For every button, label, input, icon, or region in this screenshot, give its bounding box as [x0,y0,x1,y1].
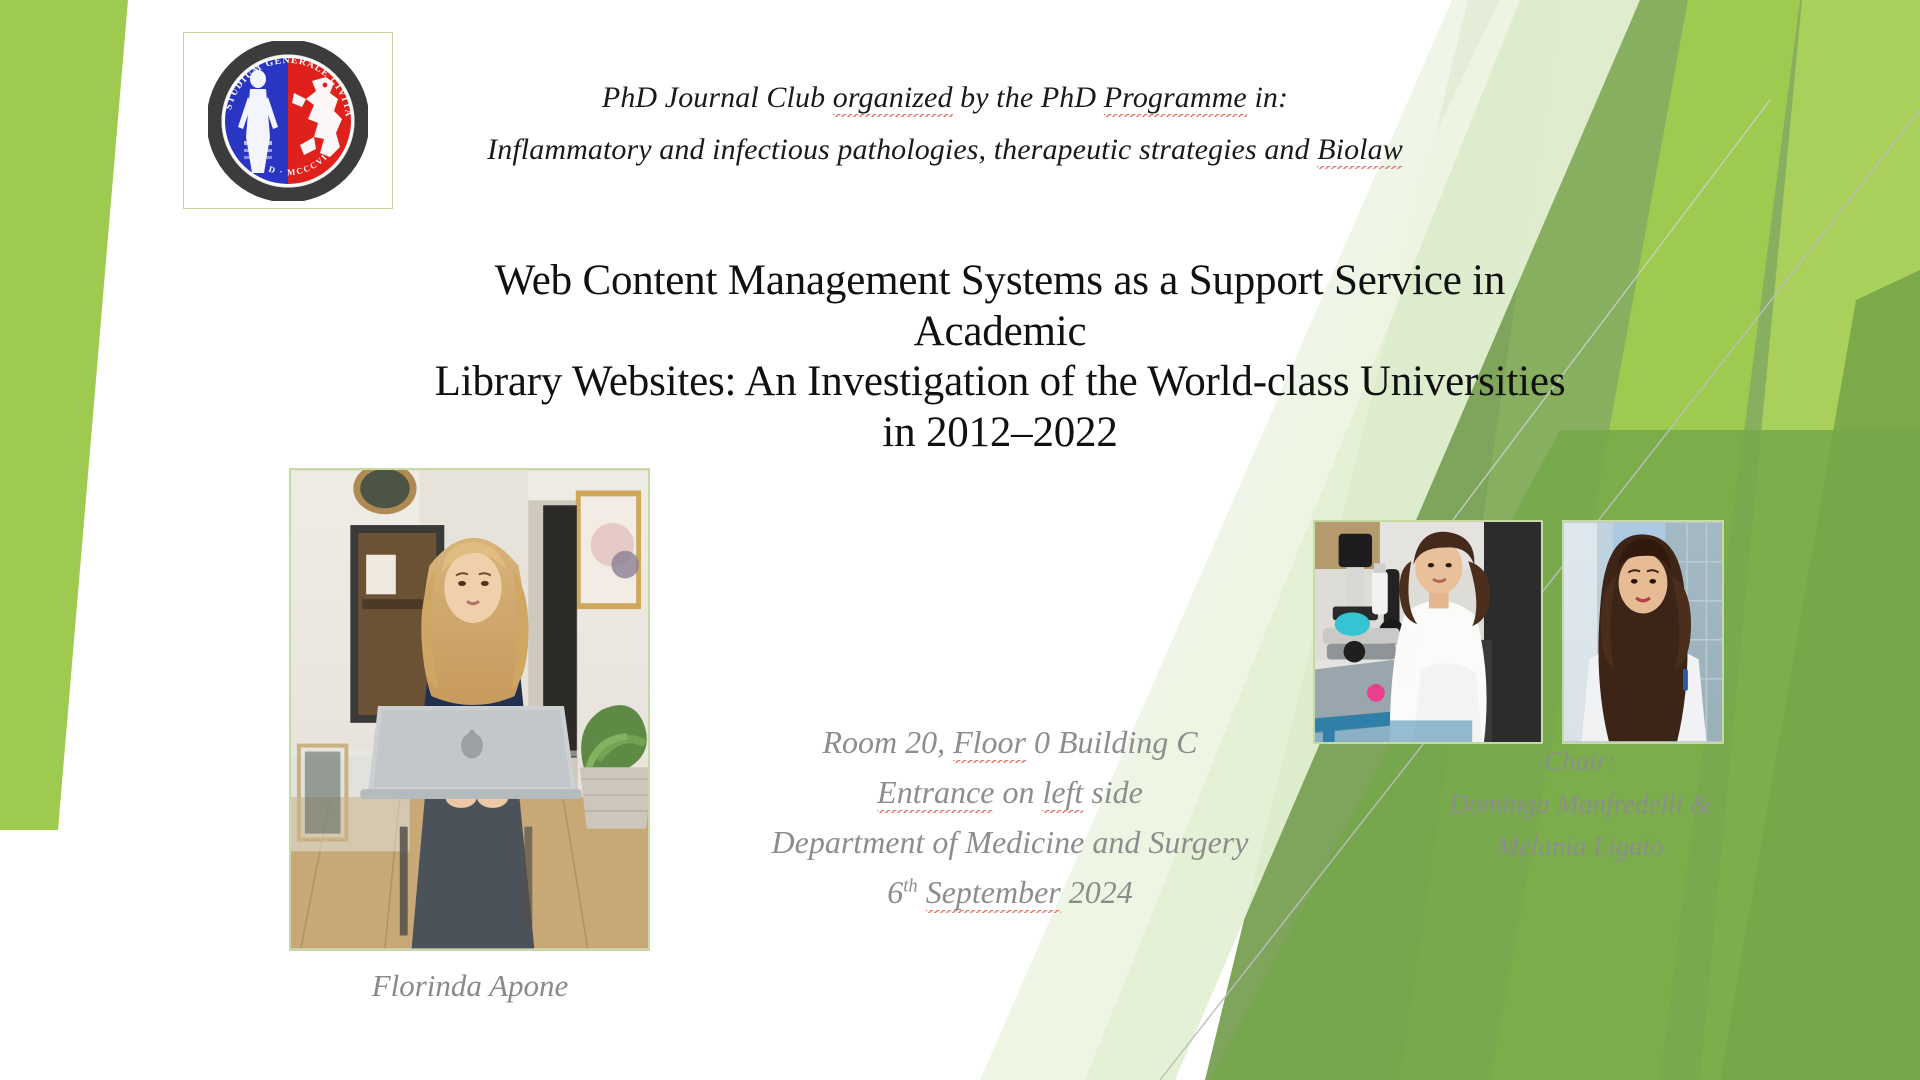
title-line-3: Library Websites: An Investigation of th… [235,357,1765,408]
venue-floor-word: Floor [953,724,1026,763]
header-line-1: PhD Journal Club organized by the PhD Pr… [330,72,1560,124]
header-line1-programme: Programme [1104,81,1247,117]
header-line1-mid: by the PhD [953,81,1104,114]
venue-date-year: 2024 [1069,874,1133,910]
chair-details: Chair: Dominga Manfredelli & Melania Lig… [1380,740,1780,868]
header-line2-pre: Inflammatory and infectious pathologies,… [487,133,1317,166]
title-line-1: Web Content Management Systems as a Supp… [235,256,1765,307]
venue-line-department: Department of Medicine and Surgery [660,818,1360,868]
venue-entrance-mid: on [994,774,1042,810]
venue-line-entrance: Entrance on left side [660,768,1360,818]
chair-photo-portrait [1562,520,1724,744]
speaker-photo [289,468,650,951]
venue-line-room: Room 20, Floor 0 Building C [660,718,1360,768]
title-line-2: Academic [235,307,1765,358]
title-line-4: in 2012–2022 [235,408,1765,459]
venue-date-ordinal: th [903,875,917,896]
venue-line-date: 6th September 2024 [660,868,1360,918]
chair-label: Chair: [1380,740,1780,783]
venue-entrance-post: side [1083,774,1143,810]
chair-person-1: Dominga Manfredelli & [1380,783,1780,826]
header-text: PhD Journal Club organized by the PhD Pr… [330,72,1560,175]
header-line2-biolaw: Biolaw [1317,133,1403,169]
venue-entrance-word: Entrance [877,774,994,813]
page-title: Web Content Management Systems as a Supp… [235,256,1765,459]
venue-room-post: 0 Building C [1026,724,1198,760]
venue-details: Room 20, Floor 0 Building C Entrance on … [660,718,1360,918]
venue-date-month: September [926,874,1061,913]
shape-left-wedge [0,0,128,830]
chair-person-2: Melania Ligato [1380,825,1780,868]
presentation-slide: STUDIUM GENERALE CIVITATIS · A · D · MCC… [0,0,1920,1080]
header-line1-post: in: [1247,81,1288,114]
venue-room-pre: Room 20, [822,724,953,760]
speaker-name: Florinda Apone [250,968,690,1004]
header-line1-organized: organized [833,81,953,117]
venue-left-word: left [1042,774,1083,813]
header-line1-pre: PhD Journal Club [602,81,833,114]
header-line-2: Inflammatory and infectious pathologies,… [330,124,1560,176]
chair-photo-microscope [1313,520,1543,744]
venue-date-day: 6 [887,874,903,910]
shape-right-lime-2 [1700,0,1920,1080]
